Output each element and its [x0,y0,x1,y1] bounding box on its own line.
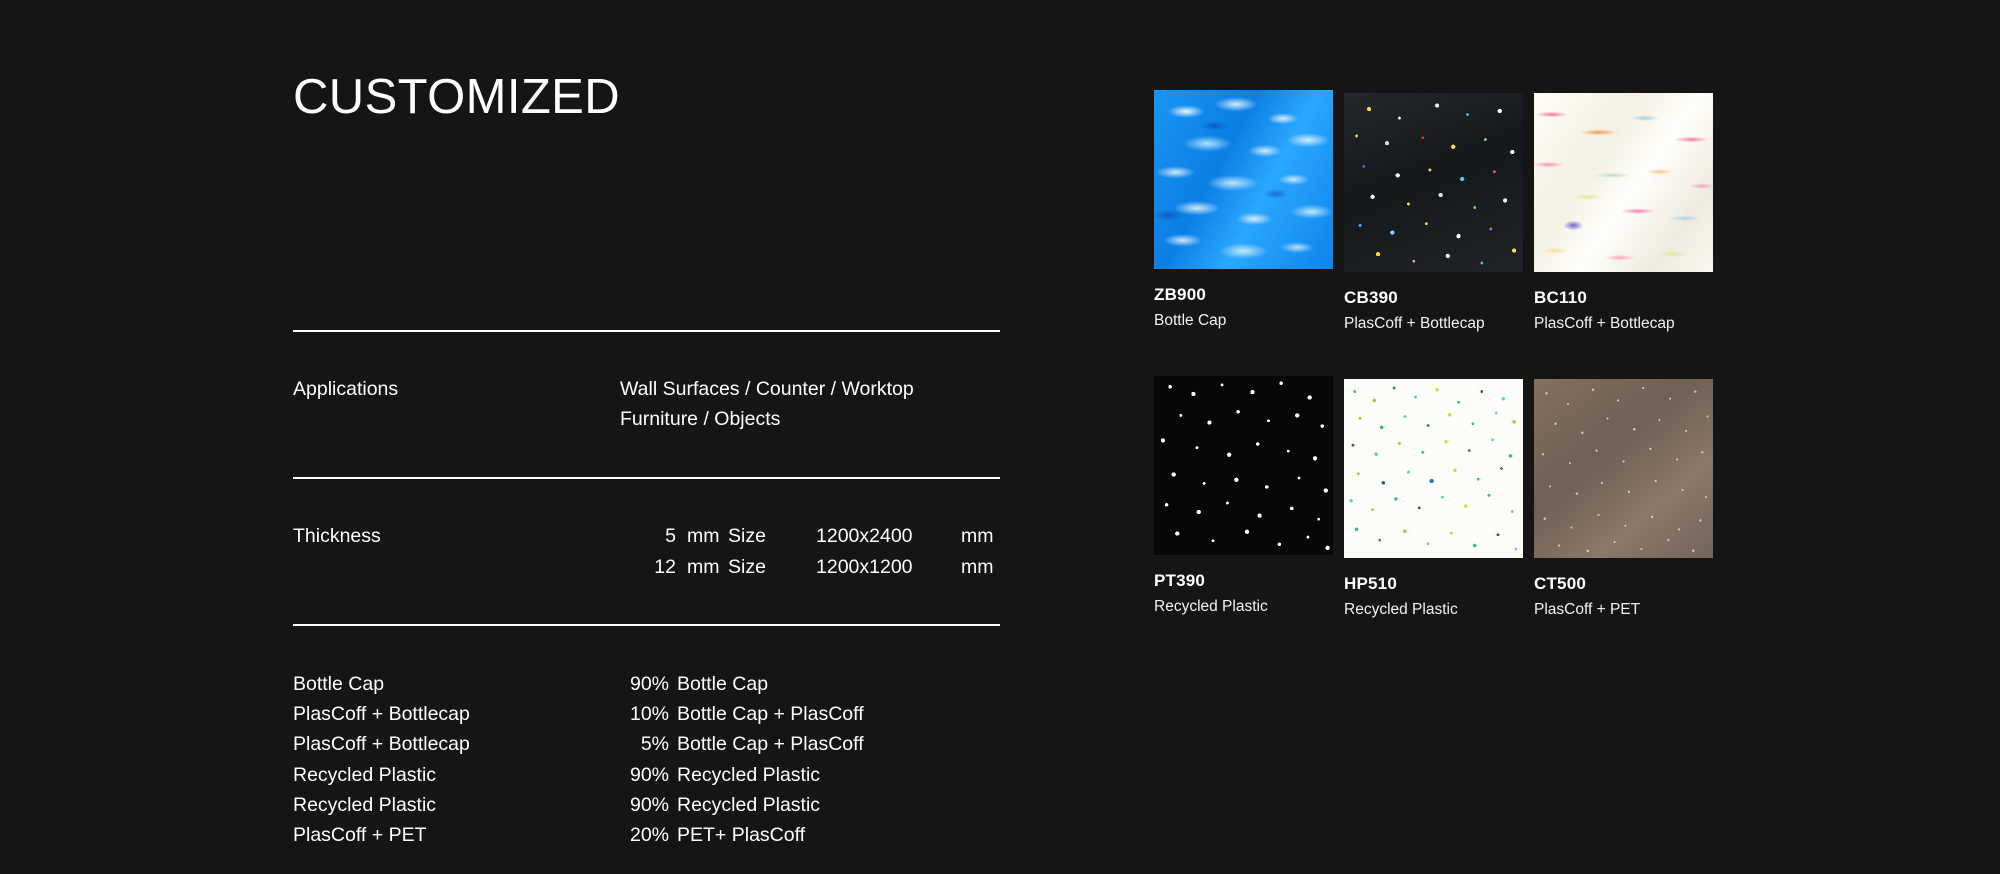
composition-mix: 20% PET+ PlasCoff [613,820,1000,850]
composition-mix-text: Recycled Plastic [677,760,820,790]
swatch-code: CT500 [1534,573,1713,595]
page-title: CUSTOMIZED [293,73,620,122]
composition-percent: 90% [613,790,669,820]
composition-mix: 10% Bottle Cap + PlasCoff [613,699,1000,729]
composition-mix-text: Recycled Plastic [677,790,820,820]
swatch-description: PlasCoff + Bottlecap [1534,309,1713,335]
composition-mix: 90% Bottle Cap [613,669,1000,699]
composition-material: Recycled Plastic [293,790,613,820]
composition-material: PlasCoff + PET [293,820,613,850]
composition-mix: 90% Recycled Plastic [613,790,1000,820]
composition-percent: 90% [613,760,669,790]
swatch-row-1: ZB900 Bottle Cap CB390 PlasCoff + Bottle… [1154,90,1714,335]
swatch-meta: HP510 Recycled Plastic [1344,558,1523,621]
thickness-value-1: 5 [620,521,676,551]
composition-percent: 20% [613,820,669,850]
swatch-card-bc110[interactable]: BC110 PlasCoff + Bottlecap [1534,90,1713,335]
composition-material: PlasCoff + Bottlecap [293,729,613,759]
applications-value: Wall Surfaces / Counter / Worktop Furnit… [620,374,914,434]
swatch-card-cb390[interactable]: CB390 PlasCoff + Bottlecap [1344,90,1523,335]
composition-material: Recycled Plastic [293,760,613,790]
swatch-description: Recycled Plastic [1344,595,1523,621]
swatch-card-pt390[interactable]: PT390 Recycled Plastic [1154,376,1333,618]
spec-row-applications: Applications Wall Surfaces / Counter / W… [293,332,1000,477]
blue-marbled-texture-swatch[interactable] [1154,90,1333,269]
composition-mix-text: PET+ PlasCoff [677,820,805,850]
composition-material: Bottle Cap [293,669,613,699]
swatch-description: PlasCoff + Bottlecap [1344,309,1523,335]
material-swatch-grid: ZB900 Bottle Cap CB390 PlasCoff + Bottle… [1154,90,1714,621]
swatch-meta: CB390 PlasCoff + Bottlecap [1344,272,1523,335]
composition-material: PlasCoff + Bottlecap [293,699,613,729]
size-dimensions-2: 1200x1200 [816,552,951,582]
composition-percent: 90% [613,669,669,699]
size-unit-1: mm [951,521,994,551]
size-label-1: Size [728,521,816,551]
thickness-label: Thickness [293,521,620,551]
thickness-value: 5 mm Size 1200x2400 mm 12 mm Size 1200x1… [620,521,994,582]
composition-percent: 5% [613,729,669,759]
thickness-value-2: 12 [620,552,676,582]
swatch-meta: ZB900 Bottle Cap [1154,269,1333,332]
composition-list: Bottle Cap 90% Bottle Cap PlasCoff + Bot… [293,626,1000,850]
swatch-card-zb900[interactable]: ZB900 Bottle Cap [1154,90,1333,332]
swatch-description: Recycled Plastic [1154,592,1333,618]
cream-pastel-streak-texture-swatch[interactable] [1534,93,1713,272]
size-label-2: Size [728,552,816,582]
thickness-unit-1: mm [676,521,728,551]
white-green-fleck-texture-swatch[interactable] [1344,379,1523,558]
composition-mix-text: Bottle Cap [677,669,768,699]
swatch-meta: BC110 PlasCoff + Bottlecap [1534,272,1713,335]
dark-confetti-texture-swatch[interactable] [1344,93,1523,272]
swatch-code: BC110 [1534,287,1713,309]
swatch-card-ct500[interactable]: CT500 PlasCoff + PET [1534,376,1713,621]
swatch-description: PlasCoff + PET [1534,595,1713,621]
size-unit-2: mm [951,552,994,582]
taupe-speckle-texture-swatch[interactable] [1534,379,1713,558]
swatch-code: HP510 [1344,573,1523,595]
swatch-code: PT390 [1154,570,1333,592]
swatch-row-2: PT390 Recycled Plastic HP510 Recycled Pl… [1154,376,1714,621]
thickness-unit-2: mm [676,552,728,582]
swatch-description: Bottle Cap [1154,306,1333,332]
swatch-card-hp510[interactable]: HP510 Recycled Plastic [1344,376,1523,621]
composition-mix-text: Bottle Cap + PlasCoff [677,699,864,729]
thickness-size-grid: 5 mm Size 1200x2400 mm 12 mm Size 1200x1… [620,521,994,582]
swatch-meta: CT500 PlasCoff + PET [1534,558,1713,621]
composition-mix-text: Bottle Cap + PlasCoff [677,729,864,759]
applications-label: Applications [293,374,620,404]
composition-percent: 10% [613,699,669,729]
swatch-code: CB390 [1344,287,1523,309]
black-white-fleck-texture-swatch[interactable] [1154,376,1333,555]
applications-value-line-2: Furniture / Objects [620,404,914,434]
composition-mix: 90% Recycled Plastic [613,760,1000,790]
swatch-code: ZB900 [1154,284,1333,306]
spec-table: Applications Wall Surfaces / Counter / W… [293,330,1000,850]
slide-root: CUSTOMIZED Applications Wall Surfaces / … [0,0,2000,874]
spec-row-thickness: Thickness 5 mm Size 1200x2400 mm 12 mm S… [293,479,1000,624]
size-dimensions-1: 1200x2400 [816,521,951,551]
swatch-meta: PT390 Recycled Plastic [1154,555,1333,618]
composition-mix: 5% Bottle Cap + PlasCoff [613,729,1000,759]
applications-value-line-1: Wall Surfaces / Counter / Worktop [620,374,914,404]
